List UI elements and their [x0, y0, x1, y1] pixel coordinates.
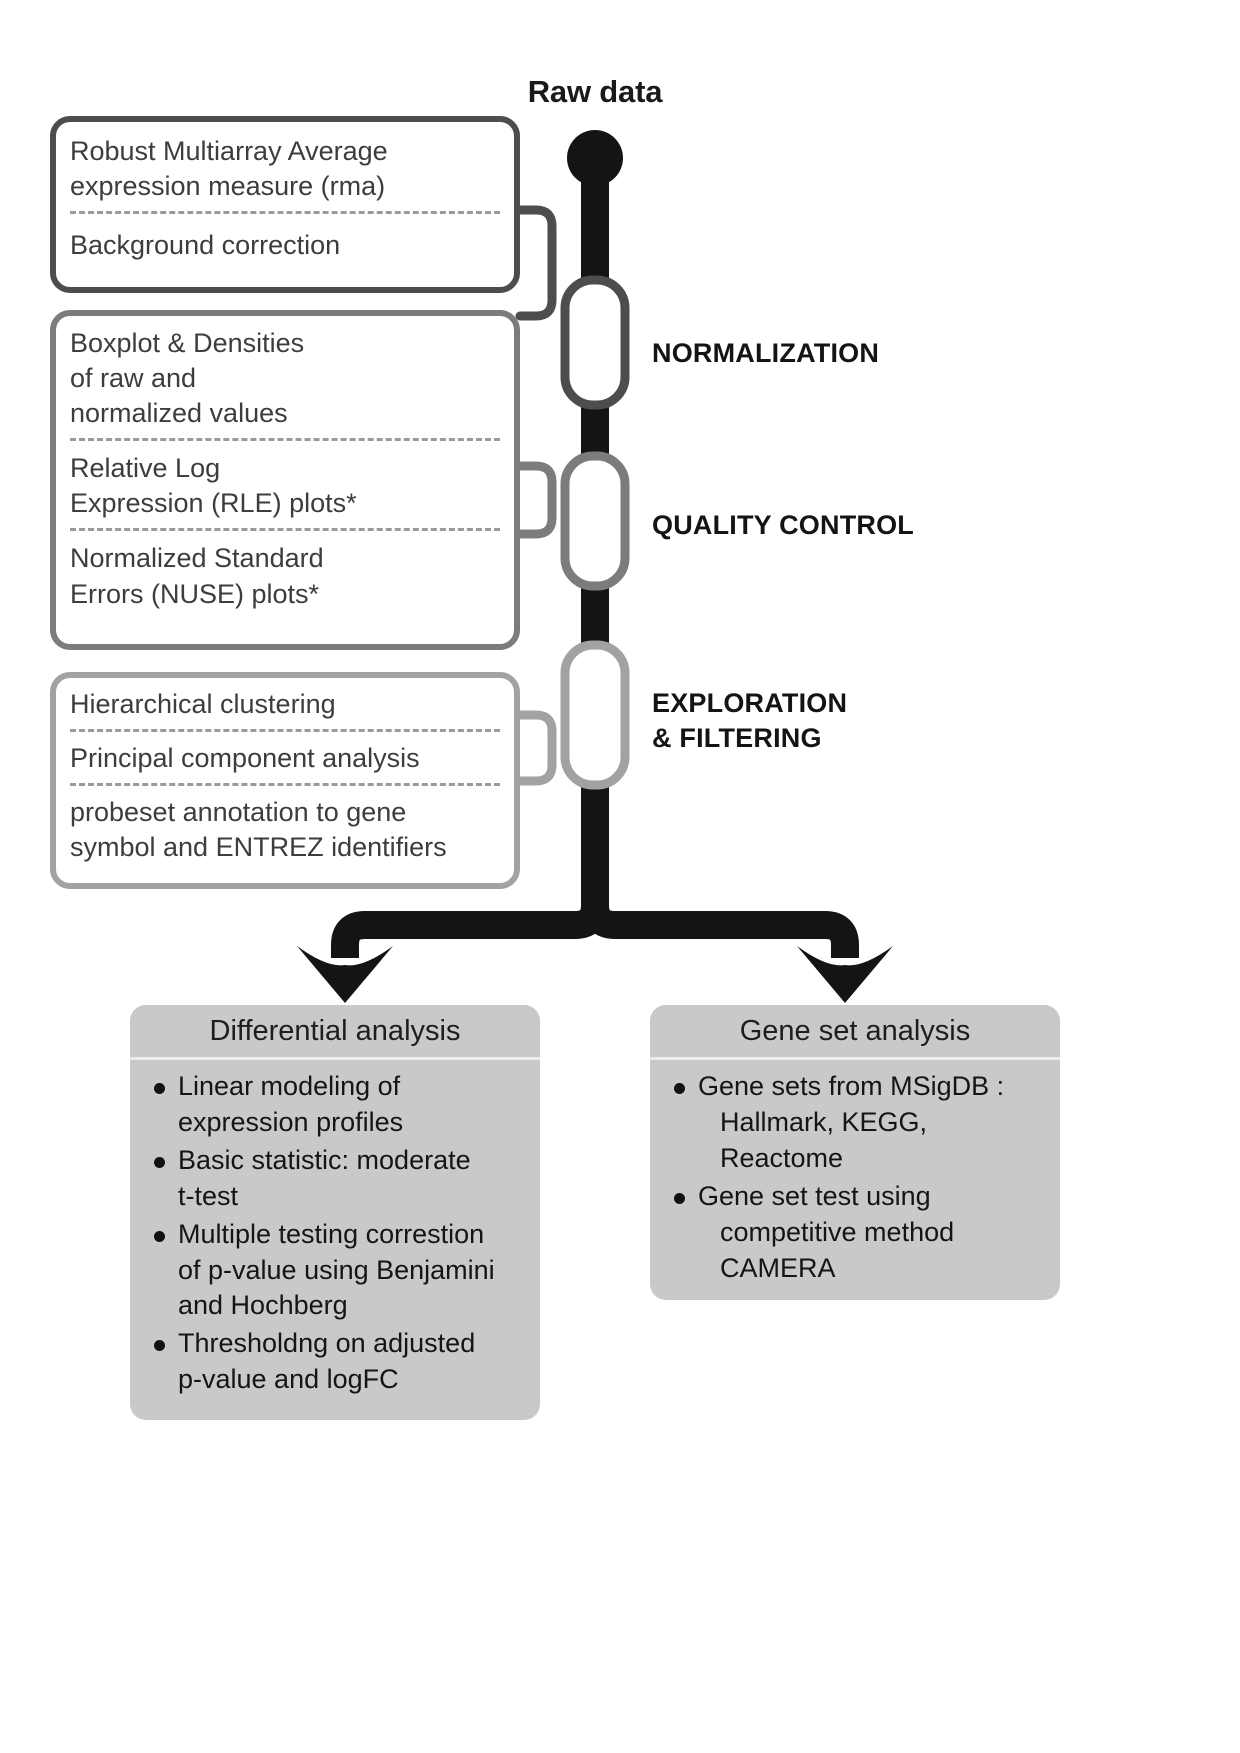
stage-box-exploration-filtering: Hierarchical clustering Principal compon…	[50, 672, 520, 889]
quality-control-hook	[520, 466, 552, 534]
stage-box-normalization: Robust Multiarray Average expression mea…	[50, 116, 520, 293]
bullet-line: Hallmark, KEGG,	[698, 1105, 1048, 1141]
bullet-line: of p-value using Benjamini	[178, 1253, 528, 1289]
bullet-line: competitive method	[698, 1215, 1048, 1251]
bullet-line: expression profiles	[178, 1105, 528, 1141]
list-item: Thresholdng on adjusted p-value and logF…	[150, 1326, 528, 1398]
exploration-capsule	[565, 645, 625, 785]
quality-control-capsule	[565, 456, 625, 586]
panel-title: Gene set analysis	[650, 1005, 1060, 1060]
bullet-line: t-test	[178, 1179, 528, 1215]
stage-item: Relative Log Expression (RLE) plots*	[70, 438, 500, 528]
stage-item: probeset annotation to gene symbol and E…	[70, 783, 500, 872]
list-item: Multiple testing correstion of p-value u…	[150, 1217, 528, 1325]
stage-label-quality-control: QUALITY CONTROL	[652, 508, 914, 543]
stage-item: Boxplot & Densities of raw and normalize…	[70, 316, 500, 438]
normalization-hook	[520, 210, 552, 316]
stage-item: Normalized Standard Errors (NUSE) plots*	[70, 528, 500, 618]
bullet-line: Gene set test using	[698, 1181, 931, 1211]
bullet-line: p-value and logFC	[178, 1362, 528, 1398]
list-item: Gene sets from MSigDB : Hallmark, KEGG, …	[670, 1069, 1048, 1177]
bullet-line: Reactome	[698, 1141, 1048, 1177]
list-item: Linear modeling of expression profiles	[150, 1069, 528, 1141]
stage-item: Principal component analysis	[70, 729, 500, 783]
bullet-line: CAMERA	[698, 1251, 1048, 1287]
panel-bullet-list: Linear modeling of expression profiles B…	[130, 1060, 540, 1414]
bullet-line: Gene sets from MSigDB :	[698, 1071, 1004, 1101]
stage-item: Robust Multiarray Average expression mea…	[70, 122, 500, 211]
bullet-line: Thresholdng on adjusted	[178, 1328, 475, 1358]
workflow-diagram: Raw data Robust Multiarray A	[0, 0, 1240, 1753]
bullet-line: and Hochberg	[178, 1288, 528, 1324]
stage-item: Background correction	[70, 211, 500, 270]
bullet-line: Linear modeling of	[178, 1071, 400, 1101]
list-item: Gene set test using competitive method C…	[670, 1179, 1048, 1287]
output-panel-gene-set-analysis: Gene set analysis Gene sets from MSigDB …	[650, 1005, 1060, 1300]
stage-label-normalization: NORMALIZATION	[652, 336, 879, 371]
normalization-capsule	[565, 280, 625, 405]
bullet-line: Basic statistic: moderate	[178, 1145, 471, 1175]
branch-split	[345, 880, 845, 958]
list-item: Basic statistic: moderate t-test	[150, 1143, 528, 1215]
panel-title: Differential analysis	[130, 1005, 540, 1060]
stage-box-quality-control: Boxplot & Densities of raw and normalize…	[50, 310, 520, 650]
stage-item: Hierarchical clustering	[70, 678, 500, 729]
exploration-hook	[520, 715, 552, 781]
panel-bullet-list: Gene sets from MSigDB : Hallmark, KEGG, …	[650, 1060, 1060, 1300]
stage-label-exploration-filtering: EXPLORATION & FILTERING	[652, 686, 847, 756]
output-panel-differential-analysis: Differential analysis Linear modeling of…	[130, 1005, 540, 1420]
bullet-line: Multiple testing correstion	[178, 1219, 484, 1249]
